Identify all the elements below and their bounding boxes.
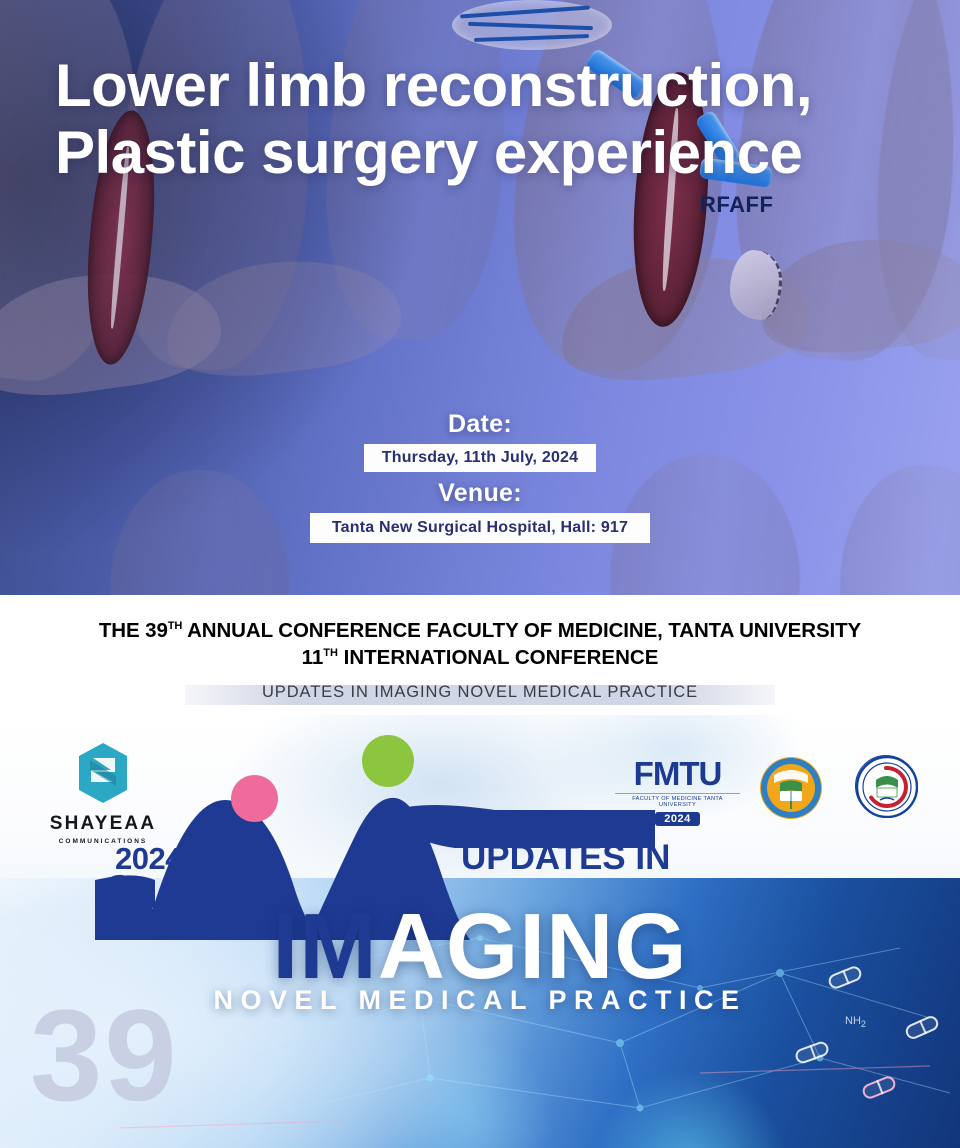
date-value: Thursday, 11th July, 2024 [364,444,597,472]
imaging-rest: AGING [378,894,688,998]
page-title: Lower limb reconstruction, Plastic surge… [55,52,885,186]
updates-in-label: UPDATES IN [461,838,670,878]
fmtu-year-badge: 2024 [655,812,699,826]
date-label: Date: [0,410,960,439]
brand-year: 2024 [115,841,182,877]
seal-tanta-university [760,757,822,819]
venue-label: Venue: [0,479,960,508]
conference-title-line-1: THE 39TH ANNUAL CONFERENCE FACULTY OF ME… [0,595,960,644]
conference-header-band: THE 39TH ANNUAL CONFERENCE FACULTY OF ME… [0,595,960,715]
conference-line2-ordinal: TH [323,647,338,659]
hero-banner: RFAFF Lower limb reconstruction, Plastic… [0,0,960,595]
venue-value: Tanta New Surgical Hospital, Hall: 917 [310,513,650,543]
faculty-of-medicine-seal-icon [856,756,918,818]
conference-line2-prefix: 11 [302,646,324,669]
conference-subtitle: UPDATES IN IMAGING NOVEL MEDICAL PRACTIC… [0,683,960,702]
seal-tanta-faculty-of-medicine [855,755,917,817]
rfaff-label: RFAFF [700,192,773,218]
conference-line2-rest: INTERNATIONAL CONFERENCE [338,646,658,669]
accent-dot-green [362,735,414,787]
conference-line1-rest: ANNUAL CONFERENCE FACULTY OF MEDICINE, T… [182,619,861,642]
novel-medical-practice-label: NOVEL MEDICAL PRACTICE [0,985,960,1016]
conference-subtitle-wrap: UPDATES IN IMAGING NOVEL MEDICAL PRACTIC… [0,683,960,711]
tanta-university-seal-icon [760,757,822,819]
skin-graft-icon [730,250,782,320]
conference-title-line-2: 11TH INTERNATIONAL CONFERENCE [0,644,960,671]
chemical-formula-label: NH2 [845,1015,866,1029]
conference-line1-prefix: THE 39 [99,619,168,642]
conference-line1-ordinal: TH [168,620,182,632]
imaging-wordmark: IMAGING [0,900,960,993]
accent-dot-pink [231,775,278,822]
imaging-lead: IM [272,894,377,998]
event-details: Date: Thursday, 11th July, 2024 Venue: T… [0,410,960,550]
formula-text: NH [845,1015,861,1027]
